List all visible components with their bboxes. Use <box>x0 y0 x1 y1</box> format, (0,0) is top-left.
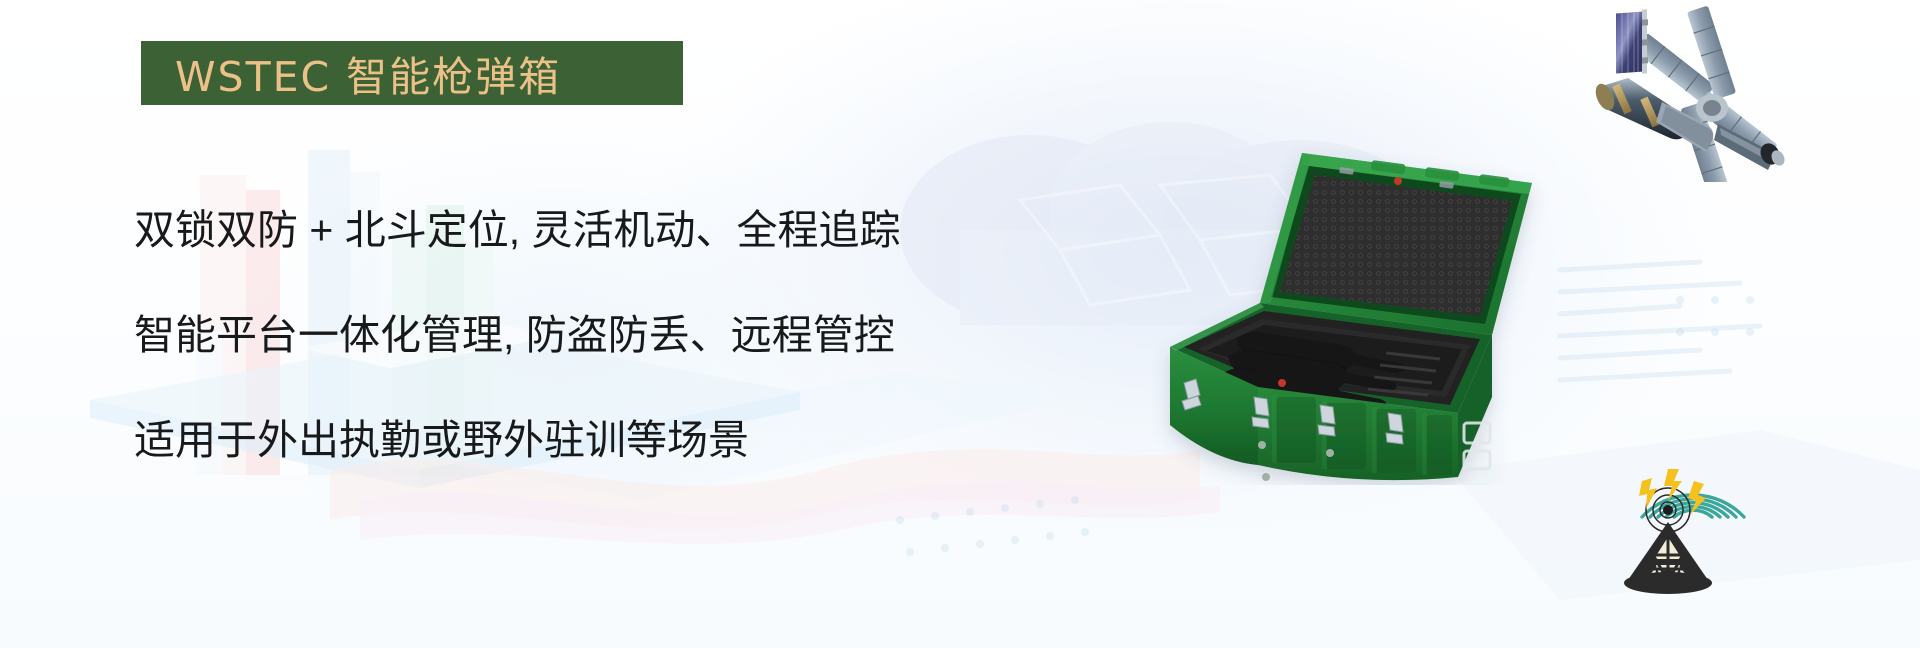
radio-tower-icon <box>1590 425 1840 640</box>
satellite-icon <box>1580 2 1920 182</box>
promo-banner: WSTEC 智能枪弹箱 双锁双防 + 北斗定位, 灵活机动、全程追踪 智能平台一… <box>0 0 1920 648</box>
satellite-svg <box>1580 2 1920 182</box>
title-banner: WSTEC 智能枪弹箱 <box>141 41 683 105</box>
feature-line: 双锁双防 + 北斗定位, 灵活机动、全程追踪 <box>134 178 1034 283</box>
case-lid <box>1260 153 1532 335</box>
feature-line: 智能平台一体化管理, 防盗防丢、远程管控 <box>134 283 1034 388</box>
satellite-solar-panel <box>1616 9 1648 73</box>
product-image-gun-ammo-case <box>1140 125 1570 485</box>
case-base <box>1170 303 1492 481</box>
antenna-tip <box>1663 505 1673 515</box>
radio-tower-svg <box>1590 425 1840 640</box>
feature-line: 适用于外出执勤或野外驻训等场景 <box>134 388 1034 493</box>
ammo-case-svg <box>1140 125 1570 485</box>
tower-structure <box>1624 522 1712 594</box>
feature-list: 双锁双防 + 北斗定位, 灵活机动、全程追踪 智能平台一体化管理, 防盗防丢、远… <box>134 178 1034 493</box>
page-title: WSTEC 智能枪弹箱 <box>141 43 561 103</box>
